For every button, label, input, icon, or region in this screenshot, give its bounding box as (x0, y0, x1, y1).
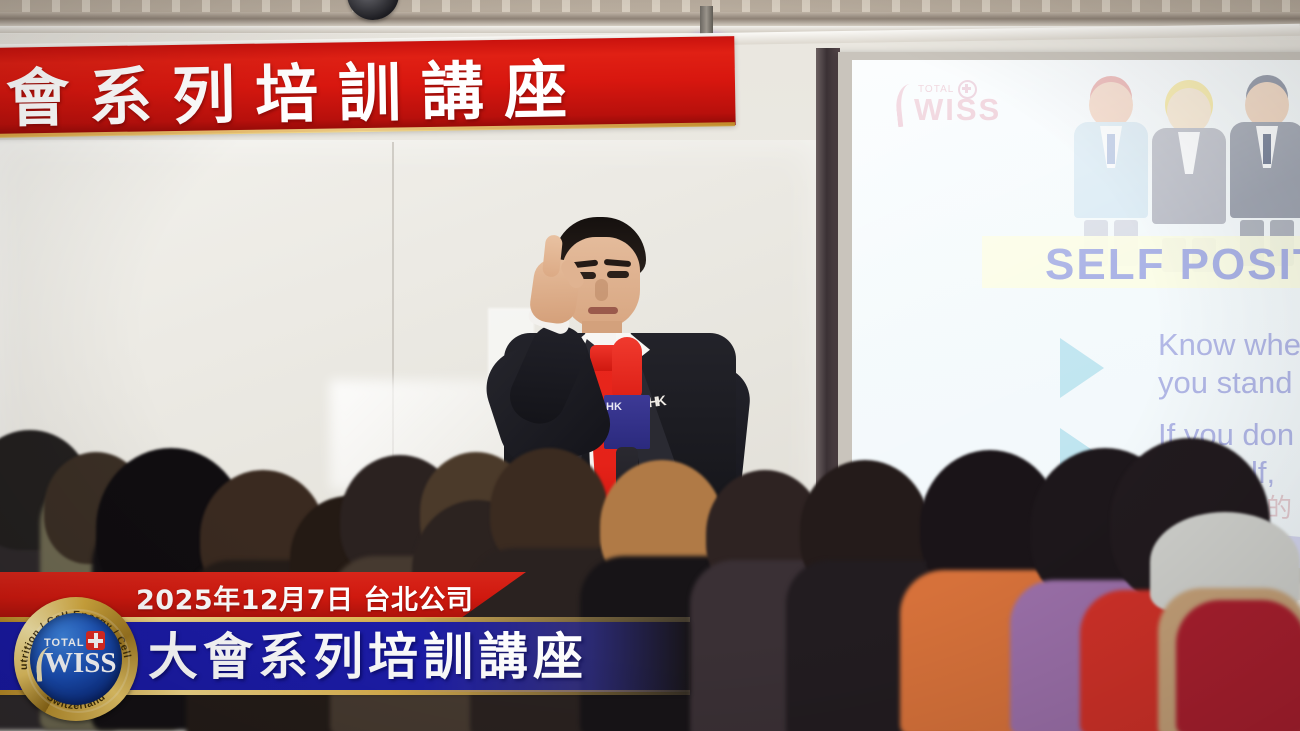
person-figure-2 (1152, 88, 1226, 224)
person-tie (1107, 134, 1115, 164)
microphone-head (612, 337, 642, 399)
lower-third-title-text: 大會系列培訓講座 (148, 625, 588, 689)
slide-people-illustration (1064, 64, 1300, 254)
microphone-flag: HK (604, 395, 650, 449)
play-triangle-icon (1060, 338, 1104, 398)
slide-brand-wiss: WISS (914, 92, 1001, 128)
person-figure-3 (1230, 82, 1300, 218)
person-figure-1 (1074, 82, 1148, 218)
seal-wiss-text: WISS (44, 647, 117, 680)
slide-bullet-1-line2: you stand (1158, 364, 1292, 402)
lower-third-date-text: 2025年12月7日 台北公司 (136, 578, 473, 617)
total-swiss-seal-logo: Cell Nutrition / Cell Energy / Cell Mine… (14, 597, 138, 721)
venue-banner-text: 會系列培訓講座 (5, 44, 726, 131)
speaker-mouth (588, 307, 618, 314)
speaker-nose (595, 279, 608, 301)
person-tie (1263, 134, 1271, 164)
ceiling-grill (0, 0, 1300, 12)
slide-title: SELF POSITI (1045, 240, 1300, 290)
photo-frame: 會系列培訓講座 TOTAL WISS (0, 0, 1300, 731)
audience-member (1176, 600, 1300, 731)
speaker-eye-right (607, 271, 629, 278)
slide-bullet-1-line1: Know whe (1158, 326, 1300, 364)
speaker-lapel-badge: HK (647, 392, 669, 411)
slide-brand-logo: TOTAL WISS (892, 74, 1012, 130)
